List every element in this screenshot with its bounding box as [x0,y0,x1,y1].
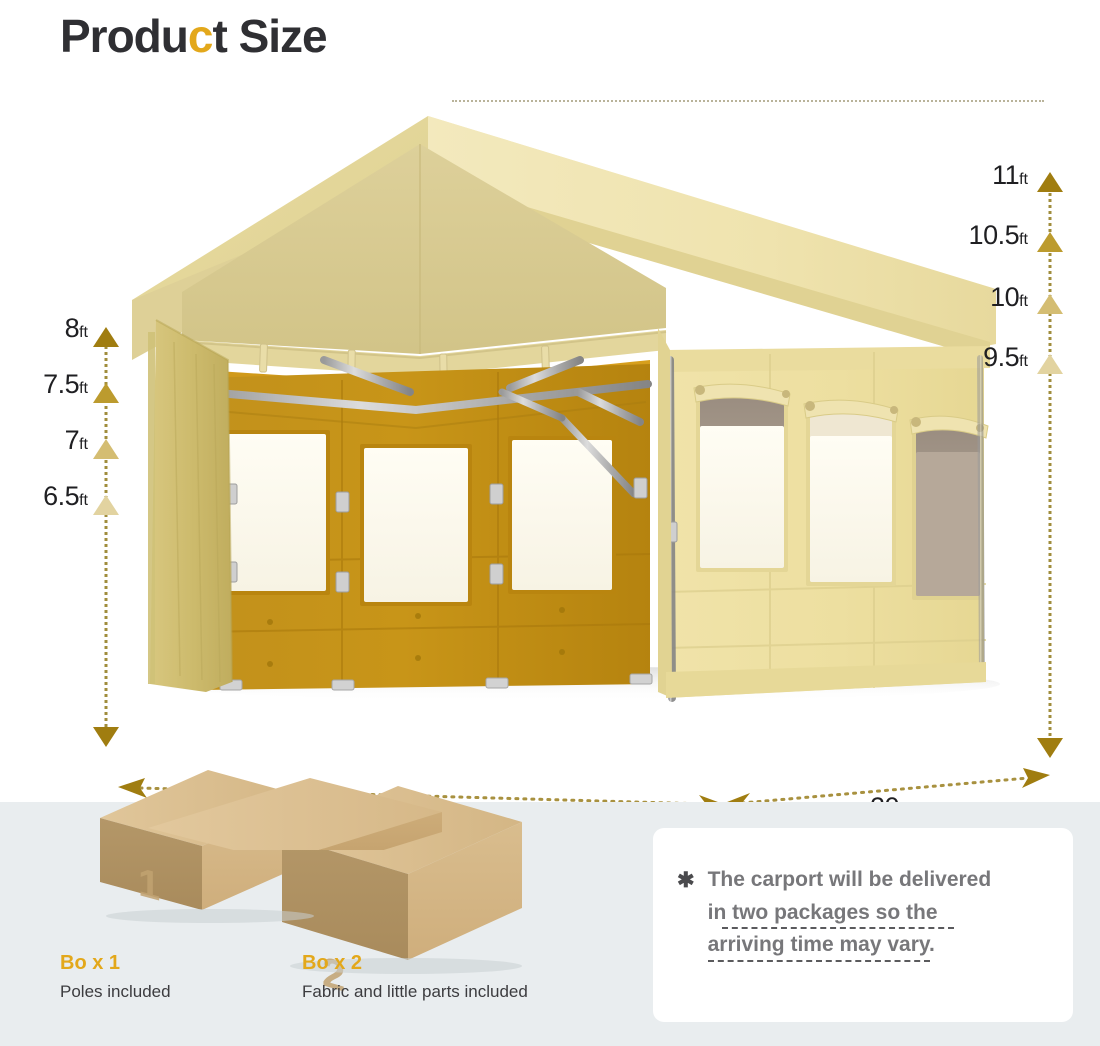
delivery-note-card: ✱ The carport will be delivered in two p… [653,828,1073,1022]
box-1-caption: Bo x 1 Poles included [60,952,171,1002]
ruler-right-tick-0 [1037,172,1063,192]
carport-illustration [110,92,1040,712]
asterisk-icon: ✱ [677,870,695,891]
delivery-note-lines: The carport will be delivered in two pac… [708,864,1057,962]
ruler-left-tick-bottom [93,727,119,747]
product-illustration-section: 8ft 7.5ft 7ft 6.5ft 11ft 10.5ft 10ft [0,72,1100,802]
box-2-name: Bo x 2 [302,952,528,975]
ruler-right-tick-3 [1037,354,1063,374]
ruler-right-label-2: 10ft [990,282,1028,313]
delivery-note-body: ✱ The carport will be delivered in two p… [677,864,1057,962]
ruler-left-tick-1 [93,383,119,403]
box-2-desc: Fabric and little parts included [302,982,528,1002]
side-wall-height-ruler: 8ft 7.5ft 7ft 6.5ft [88,327,124,757]
ruler-right-tick-2 [1037,294,1063,314]
ruler-left-tick-2 [93,439,119,459]
ruler-right-label-3: 9.5ft [983,342,1028,373]
ruler-left-label-1: 7.5ft [43,369,88,400]
ruler-right-tick-bottom [1037,738,1063,758]
svg-text:1: 1 [138,859,160,910]
ruler-left-label-0: 8ft [65,313,88,344]
ruler-left-label-3: 6.5ft [43,481,88,512]
title-accent-letter: c [188,10,213,62]
ruler-right-label-0: 11ft [992,160,1028,191]
title-part-after: t Size [212,10,326,62]
box-1-desc: Poles included [60,982,171,1002]
peak-height-ruler: 11ft 10.5ft 10ft 9.5ft [1032,172,1068,752]
box-1-name: Bo x 1 [60,952,171,975]
ruler-left-tick-3 [93,495,119,515]
ruler-left-label-2: 7ft [65,425,88,456]
delivery-note-line-1: The carport will be delivered [708,864,1057,897]
box-2-caption: Bo x 2 Fabric and little parts included [302,952,528,1002]
delivery-note-line-2: in two packages so the [708,897,1057,930]
ruler-left-tick-0 [93,327,119,347]
page-title: Product Size [60,9,327,63]
title-part-before: Produ [60,10,188,62]
delivery-note-row: ✱ The carport will be delivered in two p… [677,864,1057,962]
ruler-right-tick-1 [1037,232,1063,252]
title-bar: Product Size [60,2,327,70]
delivery-note-line-3: arriving time may vary. [708,929,1057,962]
spacer [0,802,1,803]
ruler-right-stem [1049,186,1052,742]
ruler-right-label-1: 10.5ft [969,220,1028,251]
packaging-section: 1 2 Bo x 1 Poles included Bo x 2 Fabric … [0,802,1100,1046]
